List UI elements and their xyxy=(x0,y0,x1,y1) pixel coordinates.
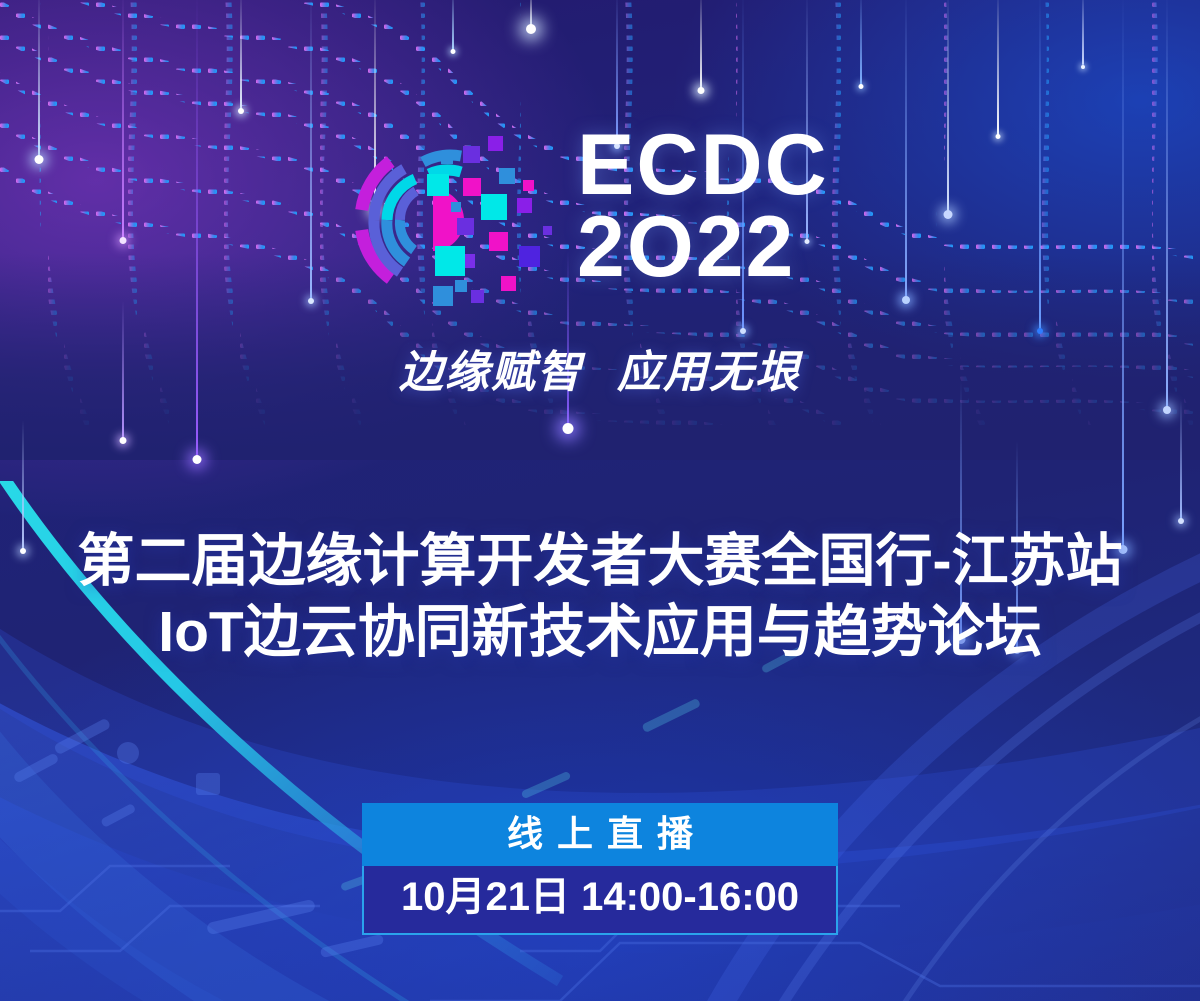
page-title: 第二届边缘计算开发者大赛全国行-江苏站 IoT边云协同新技术应用与趋势论坛 xyxy=(0,530,1200,663)
tagline-part-2: 应用无垠 xyxy=(617,348,801,397)
live-info-box: 线上直播 10月21日 14:00-16:00 xyxy=(362,803,838,935)
event-poster: ECDC 2O22 边缘赋智应用无垠 第二届边缘计算开发者大赛全国行-江苏站 I… xyxy=(0,0,1200,1001)
tagline-part-1: 边缘赋智 xyxy=(399,348,583,397)
title-line-1: 第二届边缘计算开发者大赛全国行-江苏站 xyxy=(0,530,1200,593)
ecdc-wordmark: ECDC 2O22 xyxy=(577,126,829,288)
title-line-2: IoT边云协同新技术应用与趋势论坛 xyxy=(0,601,1200,664)
ecdc-text: ECDC xyxy=(577,126,829,206)
event-tagline: 边缘赋智应用无垠 xyxy=(0,336,1200,400)
live-badge: 线上直播 xyxy=(362,803,838,866)
live-datetime: 10月21日 14:00-16:00 xyxy=(362,866,838,935)
ecdc-year-text: 2O22 xyxy=(577,208,829,288)
ecdc-circular-mark-icon xyxy=(355,130,565,310)
ecdc-logo: ECDC 2O22 xyxy=(355,130,855,320)
